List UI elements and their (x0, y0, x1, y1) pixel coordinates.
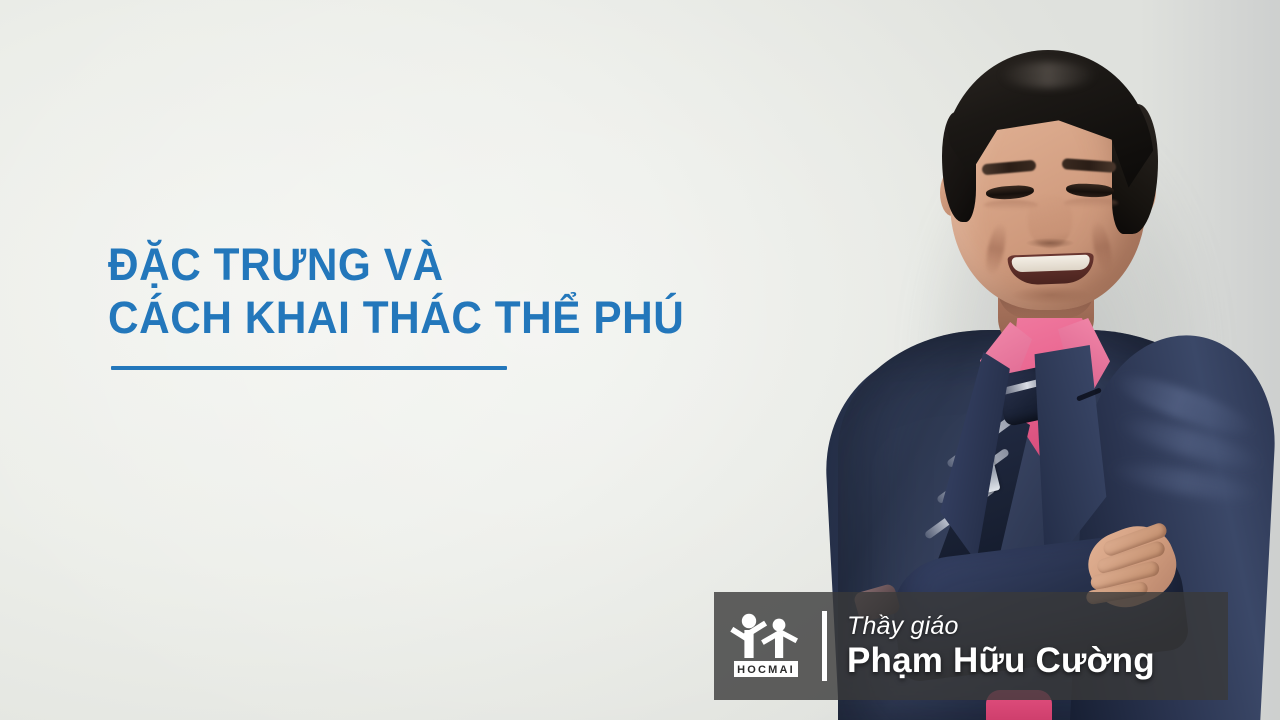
lower-third-banner: HOCMAI Thầy giáo Phạm Hữu Cường (714, 592, 1228, 700)
hair-highlight (1000, 62, 1096, 88)
presenter-role-label: Thầy giáo (847, 611, 1155, 641)
teeth (1012, 255, 1090, 273)
slide-canvas: ĐẶC TRƯNG VÀ CÁCH KHAI THÁC THỂ PHÚ HOCM… (0, 0, 1280, 720)
title-line-2: CÁCH KHAI THÁC THỂ PHÚ (108, 291, 766, 344)
eye-crease-right (1064, 198, 1118, 208)
banner-divider (822, 611, 827, 681)
presenter-credit: Thầy giáo Phạm Hữu Cường (847, 611, 1155, 681)
title-line-1: ĐẶC TRƯNG VÀ (108, 238, 766, 291)
two-figures-icon: HOCMAI (729, 611, 807, 681)
presenter-name: Phạm Hữu Cường (847, 641, 1155, 681)
slide-title: ĐẶC TRƯNG VÀ CÁCH KHAI THÁC THỂ PHÚ (108, 238, 808, 344)
chin-shadow (1012, 286, 1090, 304)
hocmai-wordmark: HOCMAI (737, 664, 795, 676)
nostril-shadow (1026, 238, 1074, 248)
hocmai-logo: HOCMAI (714, 592, 822, 700)
title-underline-rule (111, 366, 507, 370)
